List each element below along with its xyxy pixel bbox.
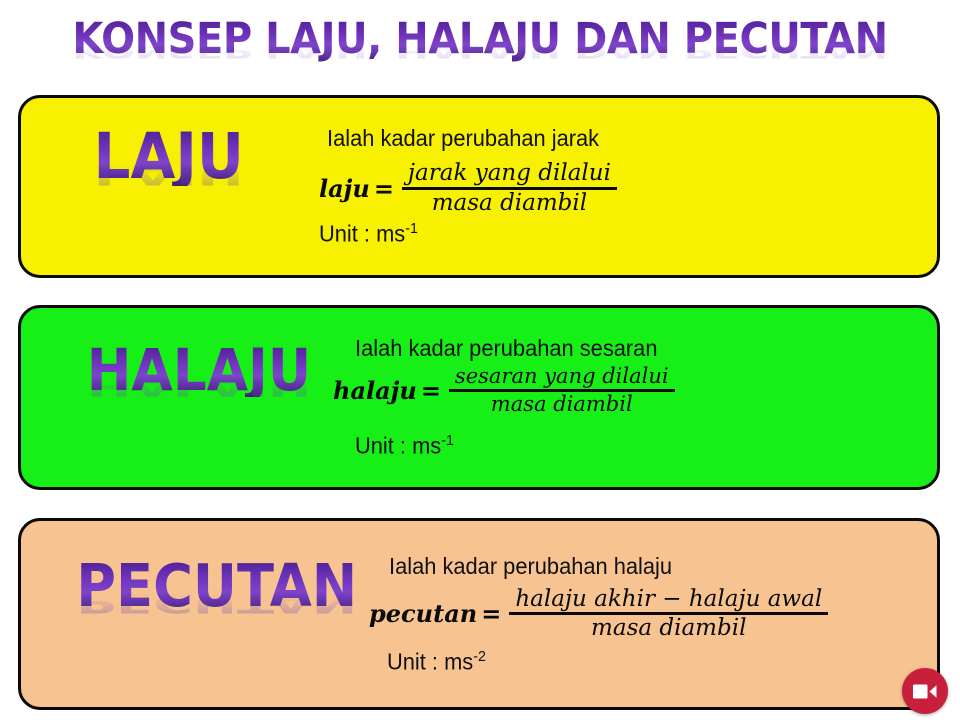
formula-denominator-pecutan: masa diambil <box>585 615 752 642</box>
unit-exponent-laju: -1 <box>405 220 418 237</box>
formula-lhs-halaju: halaju <box>333 376 417 405</box>
video-camera-icon <box>913 683 937 700</box>
concept-content-pecutan: Ialah kadar perubahan halaju pecutan = h… <box>369 521 925 707</box>
formula-numerator-halaju: sesaran yang dilalui <box>449 364 675 388</box>
unit-label-laju: Unit : ms <box>319 221 405 247</box>
formula-fraction-laju: jarak yang dilalui masa diambil <box>402 160 617 216</box>
formula-fraction-pecutan: halaju akhir − halaju awal masa diambil <box>509 586 828 642</box>
formula-denominator-halaju: masa diambil <box>485 392 639 416</box>
unit-text-halaju: Unit : ms-1 <box>355 432 897 460</box>
formula-equals-pecutan: = <box>481 599 501 628</box>
formula-lhs-laju: laju <box>319 174 370 203</box>
definition-text-laju: Ialah kadar perubahan jarak <box>327 125 895 152</box>
formula-numerator-laju: jarak yang dilalui <box>402 160 617 187</box>
formula-halaju: halaju = sesaran yang dilalui masa diamb… <box>333 364 925 416</box>
concept-word-reflection-pecutan: PECUTAN <box>76 590 357 614</box>
concept-card-laju: LAJU LAJU Ialah kadar perubahan jarak la… <box>18 95 940 278</box>
concept-content-laju: Ialah kadar perubahan jarak laju = jarak… <box>313 98 925 275</box>
concept-content-halaju: Ialah kadar perubahan sesaran halaju = s… <box>333 308 925 487</box>
unit-exponent-pecutan: -2 <box>473 648 486 665</box>
unit-exponent-halaju: -1 <box>441 432 454 449</box>
unit-label-halaju: Unit : ms <box>355 433 441 459</box>
concept-word-reflection-laju: LAJU <box>94 161 244 187</box>
formula-denominator-laju: masa diambil <box>426 190 593 217</box>
page-title-reflection: KONSEP LAJU, HALAJU DAN PECUTAN <box>34 41 927 62</box>
formula-lhs-pecutan: pecutan <box>369 599 477 628</box>
formula-numerator-pecutan: halaju akhir − halaju awal <box>509 586 828 613</box>
concept-word-block-pecutan: PECUTAN PECUTAN <box>47 521 387 707</box>
slide-title-block: KONSEP LAJU, HALAJU DAN PECUTAN KONSEP L… <box>0 14 960 92</box>
video-play-button[interactable] <box>902 668 948 714</box>
unit-text-pecutan: Unit : ms-2 <box>387 648 898 676</box>
formula-equals-halaju: = <box>421 376 441 405</box>
definition-text-pecutan: Ialah kadar perubahan halaju <box>389 553 898 580</box>
concept-word-block-halaju: HALAJU HALAJU <box>49 308 349 487</box>
concept-word-reflection-halaju: HALAJU <box>87 374 311 398</box>
formula-equals-laju: = <box>374 174 394 203</box>
definition-text-halaju: Ialah kadar perubahan sesaran <box>355 335 897 362</box>
concept-word-block-laju: LAJU LAJU <box>49 98 289 275</box>
concept-card-pecutan: PECUTAN PECUTAN Ialah kadar perubahan ha… <box>18 518 940 710</box>
unit-label-pecutan: Unit : ms <box>387 649 473 675</box>
formula-laju: laju = jarak yang dilalui masa diambil <box>319 160 925 216</box>
unit-text-laju: Unit : ms-1 <box>319 220 895 248</box>
formula-fraction-halaju: sesaran yang dilalui masa diambil <box>449 364 675 416</box>
formula-pecutan: pecutan = halaju akhir − halaju awal mas… <box>369 586 925 642</box>
concept-card-halaju: HALAJU HALAJU Ialah kadar perubahan sesa… <box>18 305 940 490</box>
